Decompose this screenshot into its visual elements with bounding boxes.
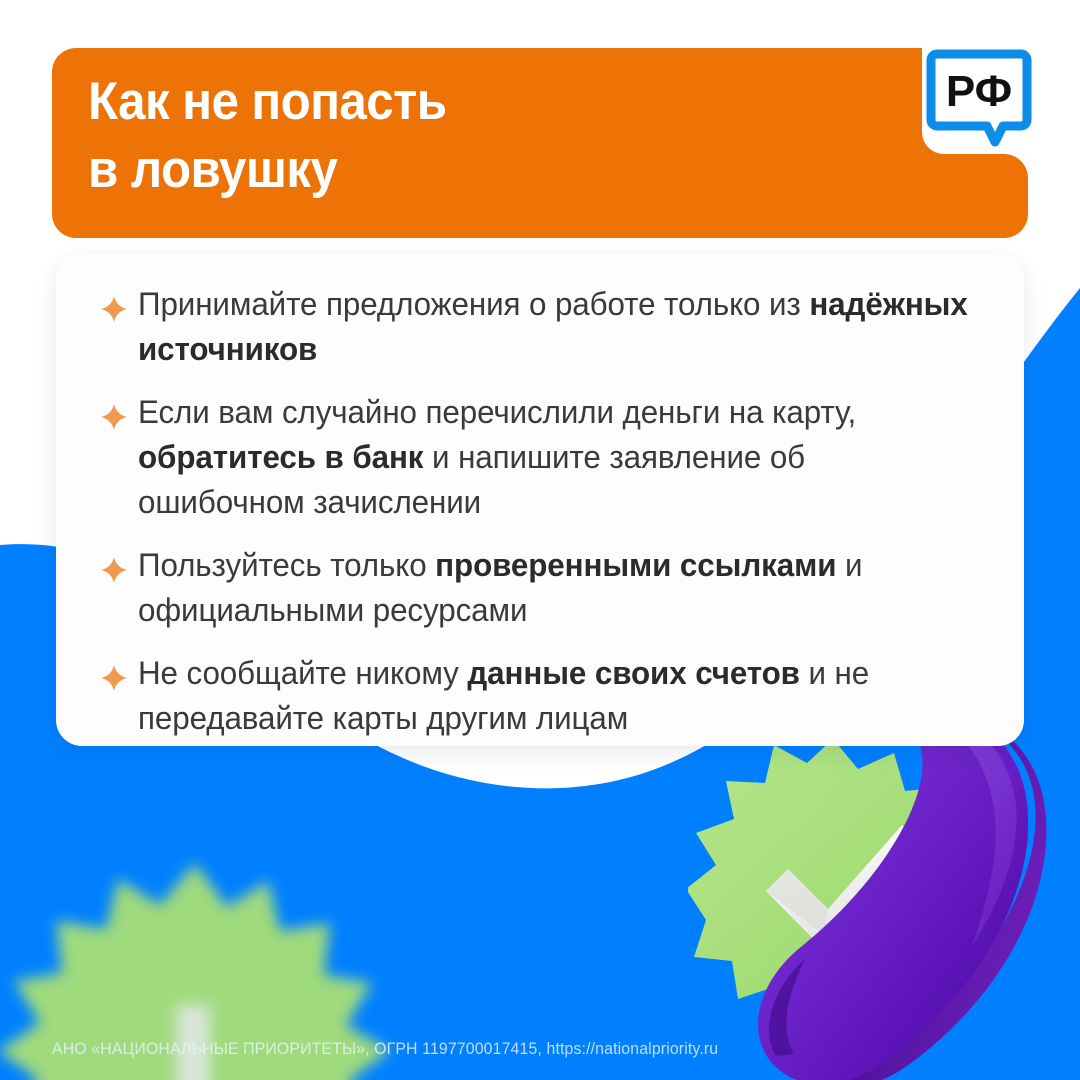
content-card: Принимайте предложения о работе только и…	[56, 254, 1024, 746]
list-item: Не сообщайте никому данные своих счетов …	[100, 651, 1000, 741]
bullet-text-2: Если вам случайно перечислили деньги на …	[138, 390, 970, 525]
diamond-bullet-icon	[100, 292, 128, 326]
bullet-text-1: Принимайте предложения о работе только и…	[138, 282, 970, 372]
phone-handset-icon	[690, 690, 1080, 1080]
list-item: Если вам случайно перечислили деньги на …	[100, 390, 1000, 525]
bullet-text-4: Не сообщайте никому данные своих счетов …	[138, 651, 970, 741]
bullet-text-3: Пользуйтесь только проверенными ссылками…	[138, 543, 970, 633]
footer-legal-text: АНО «НАЦИОНАЛЬНЫЕ ПРИОРИТЕТЫ», ОГРН 1197…	[52, 1040, 718, 1059]
list-item: Принимайте предложения о работе только и…	[100, 282, 1000, 372]
diamond-bullet-icon	[100, 400, 128, 434]
page-title: Как не попасть в ловушку	[88, 68, 446, 204]
diamond-bullet-icon	[100, 553, 128, 587]
svg-text:РФ: РФ	[946, 67, 1012, 116]
diamond-bullet-icon	[100, 661, 128, 695]
infographic-poster: Как не попасть в ловушку РФ Принимайте п…	[0, 0, 1080, 1080]
bullet-list: Принимайте предложения о работе только и…	[100, 282, 1000, 741]
rf-logo: РФ	[925, 44, 1033, 156]
list-item: Пользуйтесь только проверенными ссылками…	[100, 543, 1000, 633]
